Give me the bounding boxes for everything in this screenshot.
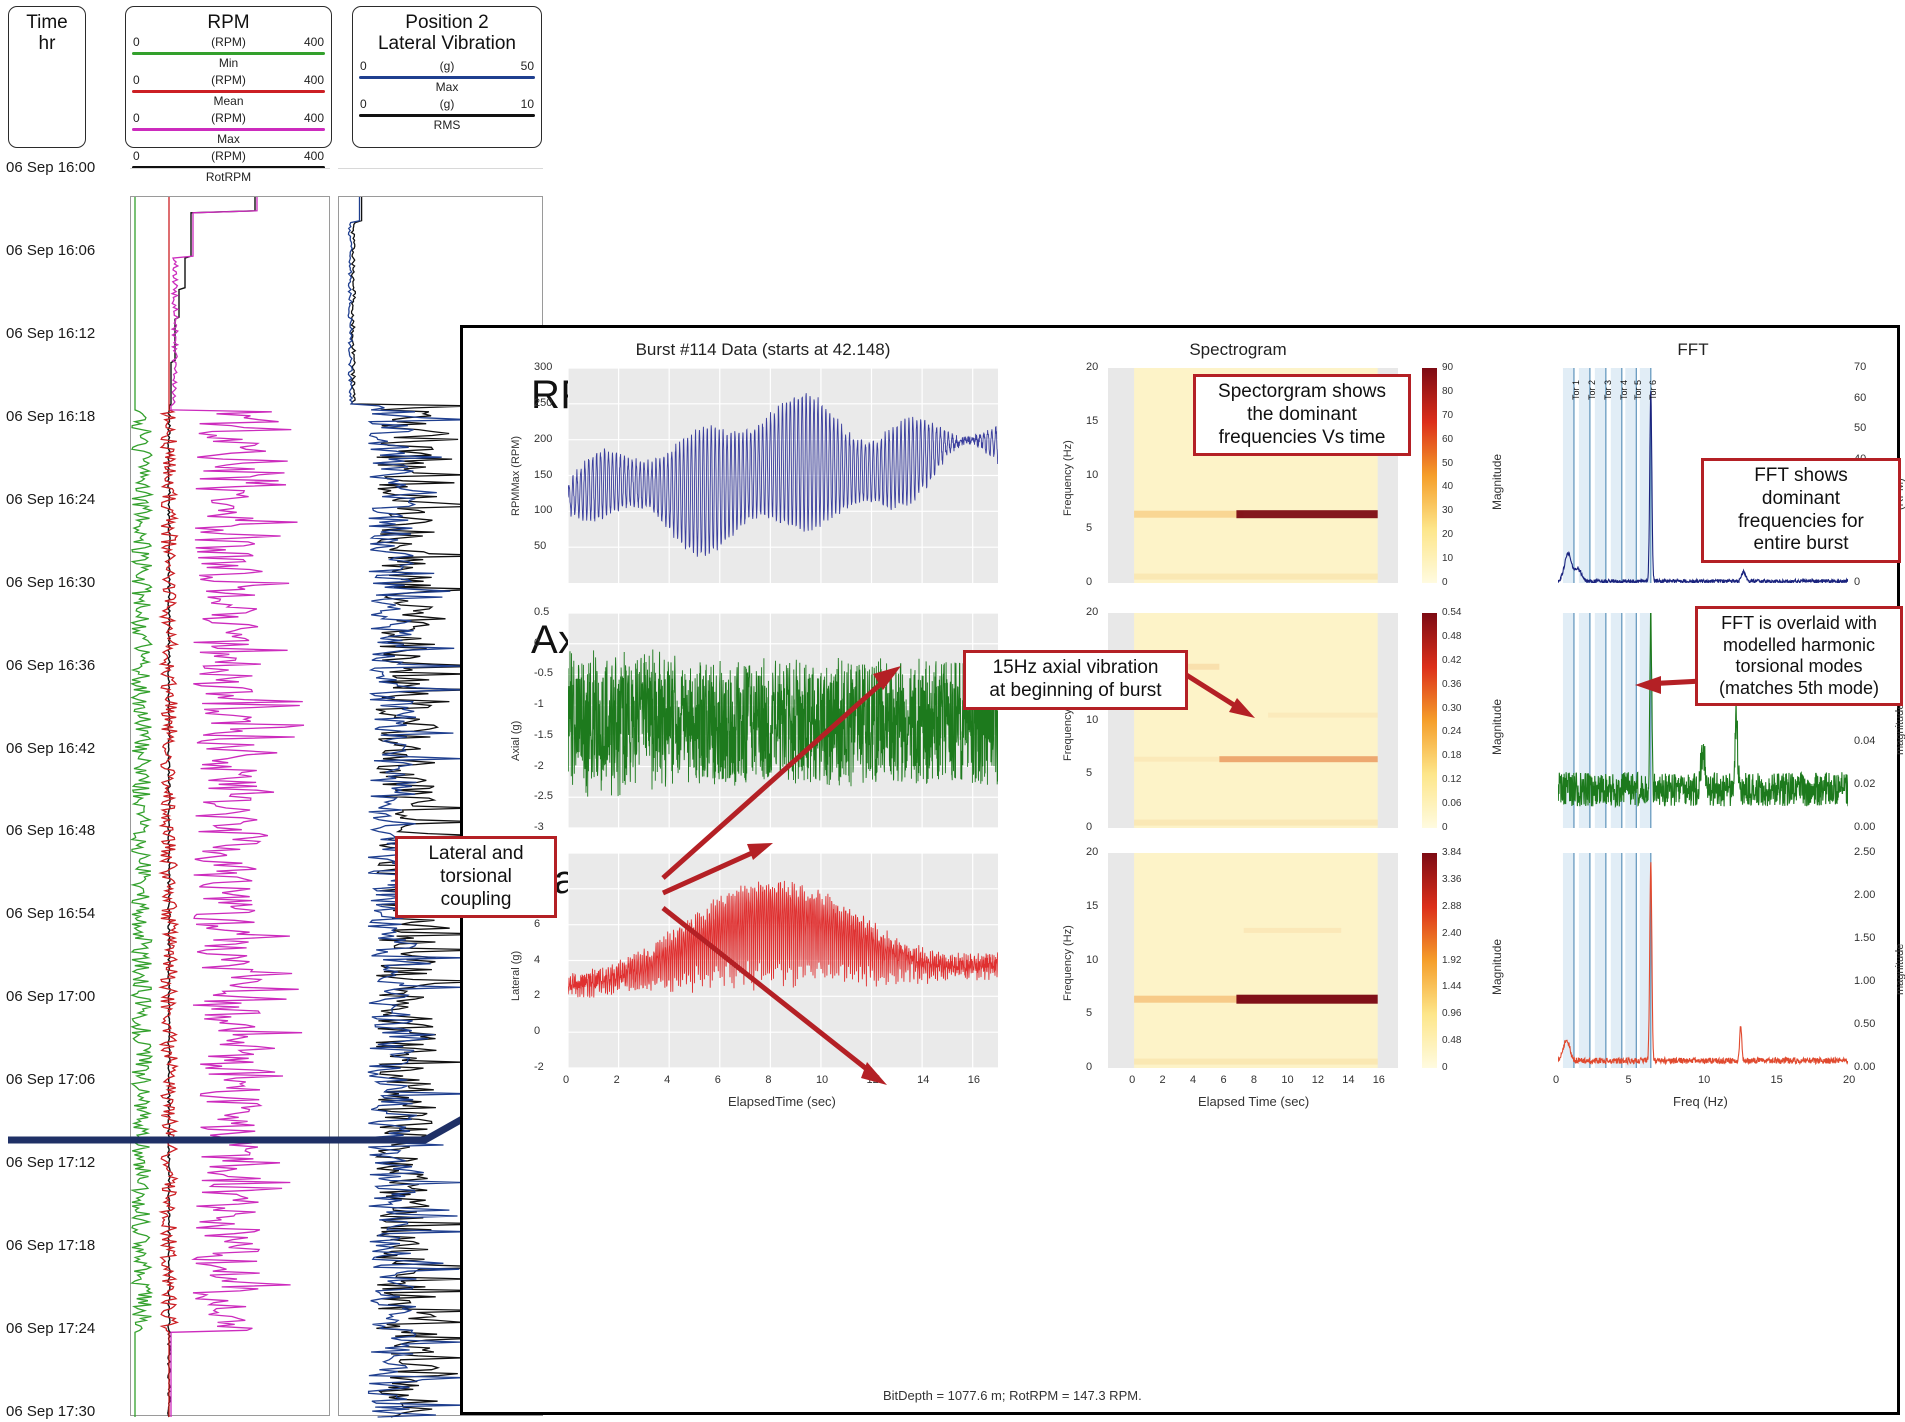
callout-spectrogram-note: Spectorgram shows the dominant frequenci…: [1193, 374, 1411, 456]
spectrogram-lateral-xlabel: Elapsed Time (sec): [1198, 1094, 1309, 1109]
spectrogram-lateral-xtick: 10: [1281, 1074, 1293, 1086]
spectrogram-lateral-xtick: 6: [1220, 1074, 1226, 1086]
spectrogram-lateral-colorbar-tick: 0: [1442, 1062, 1448, 1073]
fft-rpm-ytick: 50: [1854, 422, 1866, 434]
pos2-curve-rms: 0 (g) 10 RMS: [359, 97, 535, 135]
fft-lateral-ylabel: magnitude (g): [1894, 943, 1905, 994]
torsional-mode-label: Tor 1: [1571, 380, 1581, 400]
spectrogram-lateral-xtick: 14: [1342, 1074, 1354, 1086]
time-label: 06 Sep 16:12: [6, 325, 95, 342]
pos2-max-unit: (g): [359, 59, 535, 73]
rpm-curve-mean: 0 (RPM) 400 Mean: [132, 73, 325, 111]
panel-footnote: BitDepth = 1077.6 m; RotRPM = 147.3 RPM.: [883, 1388, 1142, 1403]
spectrogram-lateral-xtick: 12: [1312, 1074, 1324, 1086]
spectrogram-lateral-colorbar-tick: 2.88: [1442, 901, 1461, 912]
rpm-mean-unit: (RPM): [132, 73, 325, 87]
time-track-header: Time hr: [8, 6, 86, 148]
time-label: 06 Sep 17:30: [6, 1403, 95, 1420]
fft-lateral-xtick: 15: [1771, 1074, 1783, 1086]
fft-lateral-xtick: 20: [1843, 1074, 1855, 1086]
torsional-mode-label: Tor 4: [1619, 380, 1629, 400]
rpm-log-curves: [131, 197, 331, 1417]
callout-fft-note: FFT shows dominant frequencies for entir…: [1701, 458, 1901, 563]
callout-lateral-torsional-coupling-text: Lateral and torsional coupling: [428, 843, 523, 910]
spectrogram-lateral-colorbar: [1422, 853, 1437, 1068]
rpm-max-unit: (RPM): [132, 111, 325, 125]
spectrogram-rpm-ytick: 20: [1086, 361, 1098, 373]
fft-rpm-ytick: 70: [1854, 361, 1866, 373]
fft-column-title: FFT: [1523, 340, 1863, 360]
callout-spectrogram-note-text: Spectorgram shows the dominant frequenci…: [1218, 381, 1386, 448]
time-header-title: Time hr: [9, 7, 85, 55]
time-label: 06 Sep 16:48: [6, 822, 95, 839]
time-label: 06 Sep 16:30: [6, 574, 95, 591]
rpm-header-title: RPM: [126, 7, 331, 33]
time-label: 06 Sep 16:42: [6, 740, 95, 757]
spectrogram-lateral-colorbar-tick: 0.96: [1442, 1008, 1461, 1019]
spectrogram-rpm-colorbar-tick: 90: [1442, 362, 1453, 373]
spectrogram-lateral-colorbar-tick: 1.92: [1442, 955, 1461, 966]
rpm-mean-swatch: [132, 90, 325, 93]
rpm-curve-min: 0 (RPM) 400 Min: [132, 35, 325, 73]
torsional-mode-label: Tor 3: [1603, 380, 1613, 400]
spectrogram-rpm-colorbar-tick: 0: [1442, 577, 1448, 588]
fft-lateral-xtick: 0: [1553, 1074, 1559, 1086]
spectrogram-rpm-colorbar-tick: 20: [1442, 529, 1453, 540]
torsional-mode-label: Tor 2: [1587, 380, 1597, 400]
spectrogram-rpm-colorbar-tick: 80: [1442, 386, 1453, 397]
spectrogram-axial-colorbar: [1422, 613, 1437, 828]
time-header-line2: hr: [9, 33, 85, 54]
pos2-header-line2: Lateral Vibration: [353, 33, 541, 54]
fft-axial-ytick: 0.02: [1854, 778, 1875, 790]
rpm-min-swatch: [132, 52, 325, 55]
time-label: 06 Sep 17:00: [6, 988, 95, 1005]
fft-lateral-ytick: 1.50: [1854, 932, 1875, 944]
pos2-rms-unit: (g): [359, 97, 535, 111]
spectrogram-axial-colorbar-title: Magnitude: [1490, 698, 1504, 754]
spectrogram-lateral-colorbar-tick: 3.84: [1442, 847, 1461, 858]
pos2-max-label: Max: [359, 80, 535, 94]
spectrogram-rpm-colorbar-tick: 10: [1442, 553, 1453, 564]
spectrogram-axial-colorbar-tick: 0.36: [1442, 679, 1461, 690]
spectrogram-axial-colorbar-tick: 0.06: [1442, 798, 1461, 809]
time-label: 06 Sep 16:06: [6, 242, 95, 259]
spectrogram-rpm-colorbar-title: Magnitude: [1490, 453, 1504, 509]
pos2-rms-high: 10: [521, 97, 534, 111]
spectrogram-rpm-colorbar-tick: 60: [1442, 434, 1453, 445]
spectrogram-lateral-xtick: 8: [1251, 1074, 1257, 1086]
pos2-max-swatch: [359, 76, 535, 79]
rpm-max-label: Max: [132, 132, 325, 146]
spectrogram-axial-colorbar-tick: 0.12: [1442, 774, 1461, 785]
spectrogram-lateral-xtick: 4: [1190, 1074, 1196, 1086]
rpm-min-unit: (RPM): [132, 35, 325, 49]
burst-analysis-panel: Burst #114 Data (starts at 42.148) Spect…: [460, 325, 1900, 1415]
spectrogram-rpm-colorbar-tick: 70: [1442, 410, 1453, 421]
spectrogram-rpm-colorbar-tick: 40: [1442, 481, 1453, 492]
rpm-min-label: Min: [132, 56, 325, 70]
time-label: 06 Sep 17:18: [6, 1237, 95, 1254]
spectrogram-lateral-plot[interactable]: [1108, 853, 1398, 1068]
time-label: 06 Sep 16:00: [6, 159, 95, 176]
rpm-track-header: RPM 0 (RPM) 400 Min 0 (RPM) 400 Mean 0 (…: [125, 6, 332, 148]
spectrogram-axial-colorbar-tick: 0.30: [1442, 703, 1461, 714]
spectrogram-axial-colorbar-tick: 0.18: [1442, 750, 1461, 761]
burst-rpm-ytick: 300: [534, 361, 552, 373]
fft-lateral-ytick: 1.00: [1854, 975, 1875, 987]
fft-lateral-xtick: 10: [1698, 1074, 1710, 1086]
fft-lateral-ytick: 0.00: [1854, 1061, 1875, 1073]
time-header-line1: Time: [9, 12, 85, 33]
grid-line: [130, 168, 330, 169]
time-label: 06 Sep 16:18: [6, 408, 95, 425]
rpm-mean-high: 400: [304, 73, 324, 87]
log-curve: [161, 197, 178, 1417]
spectrogram-axial-colorbar-tick: 0.54: [1442, 607, 1461, 618]
fft-lateral-ytick: 2.50: [1854, 846, 1875, 858]
burst-rpm-ytick: 200: [534, 433, 552, 445]
spectrogram-rpm-ytick: 15: [1086, 415, 1098, 427]
pos2-rms-swatch: [359, 114, 535, 117]
rpm-curve-max: 0 (RPM) 400 Max: [132, 111, 325, 149]
pos2-max-high: 50: [521, 59, 534, 73]
spectrogram-lateral-colorbar-tick: 3.36: [1442, 874, 1461, 885]
spectrogram-rpm-colorbar-tick: 50: [1442, 458, 1453, 469]
time-label: 06 Sep 16:54: [6, 905, 95, 922]
torsional-mode-label: Tor 6: [1648, 380, 1658, 400]
pos2-curve-max: 0 (g) 50 Max: [359, 59, 535, 97]
rpm-rot-unit: (RPM): [132, 149, 325, 163]
spectrogram-lateral-xtick: 16: [1373, 1074, 1385, 1086]
time-label: 06 Sep 17:24: [6, 1320, 95, 1337]
rpm-mean-label: Mean: [132, 94, 325, 108]
pos2-rms-label: RMS: [359, 118, 535, 132]
time-label: 06 Sep 16:24: [6, 491, 95, 508]
fft-lateral-ytick: 2.00: [1854, 889, 1875, 901]
fft-lateral-plot[interactable]: [1558, 853, 1848, 1068]
fft-lateral-ytick: 0.50: [1854, 1018, 1875, 1030]
coupling-arrows: [463, 478, 1103, 1098]
time-label: 06 Sep 16:36: [6, 657, 95, 674]
callout-fft-modes-note-text: FFT is overlaid with modelled harmonic t…: [1719, 613, 1879, 698]
position2-track-header: Position 2 Lateral Vibration 0 (g) 50 Ma…: [352, 6, 542, 148]
fft-lateral-xtick: 5: [1626, 1074, 1632, 1086]
log-curve: [132, 197, 152, 1417]
spectrogram-axial-colorbar-tick: 0: [1442, 822, 1448, 833]
rpm-max-high: 400: [304, 111, 324, 125]
spectrogram-axial-colorbar-tick: 0.42: [1442, 655, 1461, 666]
spectrogram-axial-colorbar-tick: 0.48: [1442, 631, 1461, 642]
rpm-rot-high: 400: [304, 149, 324, 163]
pos2-header-line1: Position 2: [353, 12, 541, 33]
callout-lateral-torsional-coupling: Lateral and torsional coupling: [395, 836, 557, 918]
rpm-min-high: 400: [304, 35, 324, 49]
log-curve: [171, 197, 304, 1417]
fft-lateral-xlabel: Freq (Hz): [1673, 1094, 1728, 1109]
spectrogram-lateral-xtick: 2: [1160, 1074, 1166, 1086]
burst-column-title: Burst #114 Data (starts at 42.148): [523, 340, 1003, 360]
time-label: 06 Sep 17:12: [6, 1154, 95, 1171]
log-curve: [168, 197, 255, 1417]
grid-line: [338, 168, 543, 169]
burst-rpm-ytick: 250: [534, 397, 552, 409]
spectrogram-axial-colorbar-tick: 0.24: [1442, 726, 1461, 737]
torsional-mode-label: Tor 5: [1633, 380, 1643, 400]
fft-rpm-ytick: 60: [1854, 392, 1866, 404]
callout-fft-modes-note: FFT is overlaid with modelled harmonic t…: [1695, 606, 1903, 706]
spectrogram-lateral-colorbar-tick: 0.48: [1442, 1035, 1461, 1046]
spectrogram-lateral-colorbar-tick: 2.40: [1442, 928, 1461, 939]
spectrogram-rpm-colorbar-tick: 30: [1442, 505, 1453, 516]
spectrogram-rpm-colorbar: [1422, 368, 1437, 583]
spectrogram-column-title: Spectrogram: [1073, 340, 1403, 360]
rpm-log-track[interactable]: [130, 196, 330, 1416]
fft-rpm-ytick: 0: [1854, 576, 1860, 588]
rpm-rot-label: RotRPM: [132, 170, 325, 184]
fft-axial-ylabel: magnitude (g): [1894, 703, 1905, 754]
callout-axial-15hz: 15Hz axial vibration at beginning of bur…: [963, 650, 1188, 710]
callout-axial-15hz-text: 15Hz axial vibration at beginning of bur…: [989, 657, 1161, 701]
spectrogram-lateral-colorbar-title: Magnitude: [1490, 938, 1504, 994]
spectrogram-lateral-xtick: 0: [1129, 1074, 1135, 1086]
fft-axial-ytick: 0.04: [1854, 735, 1875, 747]
pos2-header-title: Position 2 Lateral Vibration: [353, 7, 541, 55]
callout-fft-note-text: FFT shows dominant frequencies for entir…: [1738, 465, 1864, 554]
spectrogram-lateral-colorbar-tick: 1.44: [1442, 981, 1461, 992]
rpm-max-swatch: [132, 128, 325, 131]
fft-axial-ytick: 0.00: [1854, 821, 1875, 833]
